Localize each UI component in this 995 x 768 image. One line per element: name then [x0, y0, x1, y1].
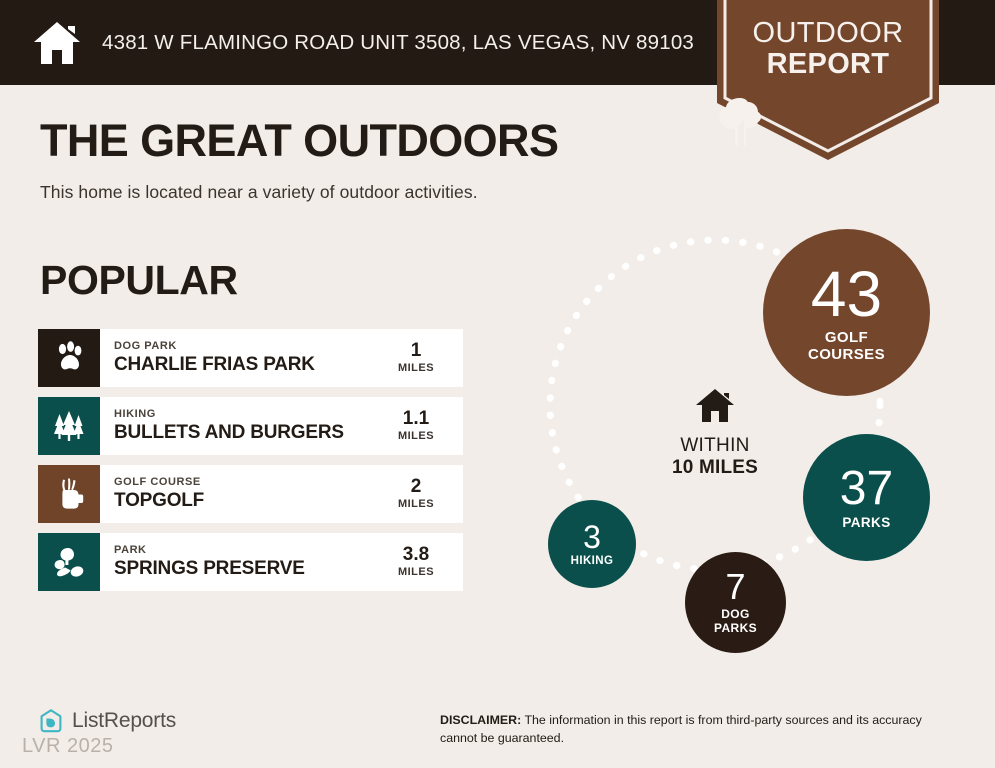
badge-line-1: OUTDOOR — [717, 18, 939, 49]
home-icon — [650, 388, 780, 429]
park-tree-icon — [38, 533, 100, 591]
listreports-logo[interactable]: ListReports — [38, 708, 176, 734]
listreports-logo-icon — [38, 708, 64, 734]
chart-center-line-1: WITHIN — [650, 435, 780, 457]
bubble-value: 7 — [725, 569, 745, 605]
list-item[interactable]: HIKING BULLETS AND BURGERS 1.1 MILES — [38, 397, 463, 455]
outdoor-report-page: 4381 W FLAMINGO ROAD UNIT 3508, LAS VEGA… — [0, 0, 995, 768]
bubble-parks[interactable]: 37 PARKS — [803, 434, 930, 561]
home-icon — [32, 20, 82, 66]
bubble-label-line-1: PARKS — [842, 516, 890, 530]
within-10-miles-chart: WITHIN 10 MILES 43 GOLF COURSES 37 PARKS… — [515, 215, 995, 675]
list-item-distance-value: 1 — [411, 341, 422, 361]
disclaimer-label: DISCLAIMER: — [440, 713, 521, 727]
listreports-logo-text: ListReports — [72, 709, 176, 733]
golf-bag-icon — [38, 465, 100, 523]
list-item-category: HIKING — [114, 408, 377, 421]
pine-trees-icon — [38, 397, 100, 455]
badge-line-2: REPORT — [717, 49, 939, 80]
list-item[interactable]: GOLF COURSE TOPGOLF 2 MILES — [38, 465, 463, 523]
paw-print-icon — [38, 329, 100, 387]
list-item[interactable]: PARK SPRINGS PRESERVE 3.8 MILES — [38, 533, 463, 591]
bubble-value: 3 — [583, 521, 601, 553]
property-address: 4381 W FLAMINGO ROAD UNIT 3508, LAS VEGA… — [102, 31, 694, 55]
list-item-distance-value: 2 — [411, 477, 422, 497]
list-item-distance-unit: MILES — [398, 429, 434, 443]
list-item-distance-unit: MILES — [398, 565, 434, 579]
list-item-category: GOLF COURSE — [114, 476, 377, 489]
list-item-distance: 2 MILES — [377, 465, 463, 523]
popular-list: DOG PARK CHARLIE FRIAS PARK 1 MILES HIKI… — [38, 329, 463, 601]
bubble-label-line-1: GOLF — [825, 330, 868, 347]
list-item-distance-unit: MILES — [398, 497, 434, 511]
list-item-name: CHARLIE FRIAS PARK — [114, 354, 377, 376]
list-item-text: PARK SPRINGS PRESERVE — [100, 533, 377, 591]
watermark: LVR 2025 — [22, 735, 113, 758]
chart-center-line-2: 10 MILES — [650, 457, 780, 480]
list-item-text: GOLF COURSE TOPGOLF — [100, 465, 377, 523]
list-item-text: DOG PARK CHARLIE FRIAS PARK — [100, 329, 377, 387]
list-item-distance-value: 1.1 — [403, 409, 429, 429]
list-item-distance: 1 MILES — [377, 329, 463, 387]
outdoor-report-badge: OUTDOOR REPORT — [717, 0, 939, 160]
bubble-label-line-1: DOG — [721, 608, 750, 622]
list-item-distance-value: 3.8 — [403, 545, 429, 565]
bubble-value: 37 — [840, 465, 893, 513]
bubble-hiking[interactable]: 3 HIKING — [548, 500, 636, 588]
list-item-text: HIKING BULLETS AND BURGERS — [100, 397, 377, 455]
list-item-distance: 1.1 MILES — [377, 397, 463, 455]
list-item-name: BULLETS AND BURGERS — [114, 422, 377, 444]
list-item-distance-unit: MILES — [398, 361, 434, 375]
badge-title: OUTDOOR REPORT — [717, 18, 939, 79]
list-item[interactable]: DOG PARK CHARLIE FRIAS PARK 1 MILES — [38, 329, 463, 387]
page-subtitle: This home is located near a variety of o… — [40, 182, 478, 203]
bubble-value: 43 — [811, 262, 882, 326]
list-item-category: PARK — [114, 544, 377, 557]
list-item-name: SPRINGS PRESERVE — [114, 558, 377, 580]
popular-heading: POPULAR — [40, 260, 238, 301]
list-item-category: DOG PARK — [114, 340, 377, 353]
list-item-name: TOPGOLF — [114, 490, 377, 512]
chart-center-label: WITHIN 10 MILES — [650, 388, 780, 480]
bubble-label-line-2: COURSES — [808, 347, 885, 364]
bubble-dog-parks[interactable]: 7 DOG PARKS — [685, 552, 786, 653]
list-item-distance: 3.8 MILES — [377, 533, 463, 591]
bubble-golf-courses[interactable]: 43 GOLF COURSES — [763, 229, 930, 396]
bubble-label-line-1: HIKING — [571, 556, 614, 568]
bubble-label-line-2: PARKS — [714, 622, 757, 636]
page-title: THE GREAT OUTDOORS — [40, 118, 558, 163]
disclaimer: DISCLAIMER: The information in this repo… — [440, 712, 960, 748]
